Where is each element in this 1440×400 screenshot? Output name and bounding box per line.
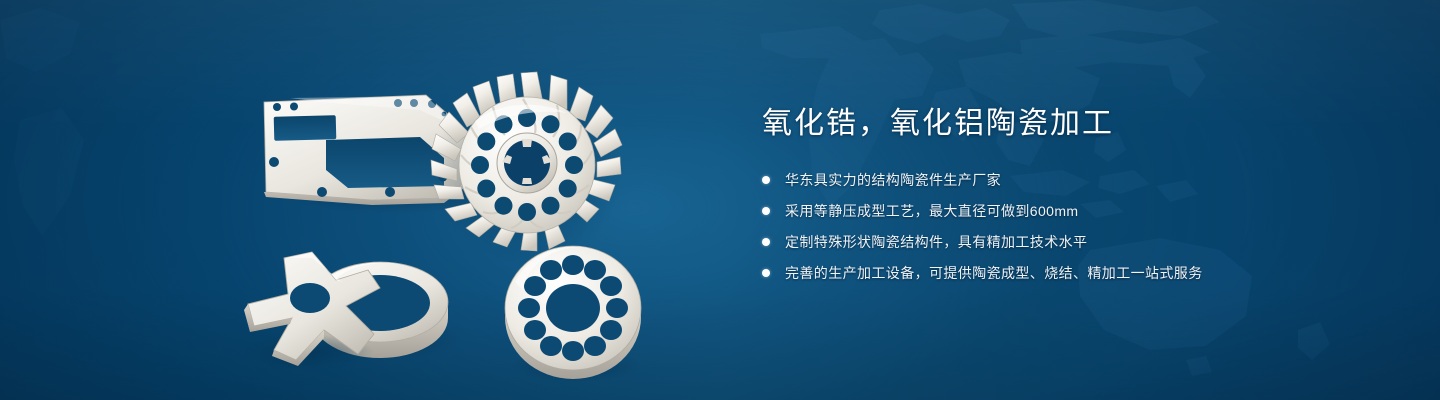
list-item: 完善的生产加工设备，可提供陶瓷成型、烧结、精加工一站式服务 bbox=[762, 262, 1382, 284]
promo-banner: 氧化锆，氧化铝陶瓷加工 华东具实力的结构陶瓷件生产厂家 采用等静压成型工艺，最大… bbox=[0, 0, 1440, 400]
page-title: 氧化锆，氧化铝陶瓷加工 bbox=[762, 104, 1382, 144]
list-item-label: 采用等静压成型工艺，最大直径可做到600mm bbox=[785, 200, 1078, 222]
list-item: 采用等静压成型工艺，最大直径可做到600mm bbox=[762, 200, 1382, 222]
bullet-dot-icon bbox=[762, 269, 770, 277]
feature-list: 华东具实力的结构陶瓷件生产厂家 采用等静压成型工艺，最大直径可做到600mm 定… bbox=[762, 169, 1382, 284]
list-item-label: 定制特殊形状陶瓷结构件，具有精加工技术水平 bbox=[785, 231, 1087, 253]
bullet-dot-icon bbox=[762, 238, 770, 246]
ceramic-impeller-part bbox=[431, 72, 623, 265]
marketing-copy: 氧化锆，氧化铝陶瓷加工 华东具实力的结构陶瓷件生产厂家 采用等静压成型工艺，最大… bbox=[762, 104, 1382, 293]
list-item: 华东具实力的结构陶瓷件生产厂家 bbox=[762, 169, 1382, 191]
bullet-dot-icon bbox=[762, 207, 770, 215]
list-item-label: 华东具实力的结构陶瓷件生产厂家 bbox=[785, 169, 1001, 191]
ceramic-perforated-disc-part bbox=[505, 246, 643, 382]
list-item-label: 完善的生产加工设备，可提供陶瓷成型、烧结、精加工一站式服务 bbox=[785, 262, 1203, 284]
list-item: 定制特殊形状陶瓷结构件，具有精加工技术水平 bbox=[762, 231, 1382, 253]
ceramic-products-image bbox=[230, 40, 720, 380]
bullet-dot-icon bbox=[762, 176, 770, 184]
